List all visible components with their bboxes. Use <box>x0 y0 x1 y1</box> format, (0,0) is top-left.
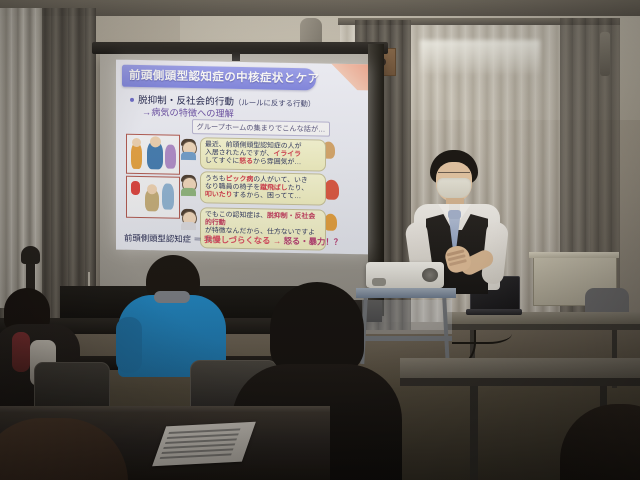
speaker-face-3 <box>180 209 197 230</box>
bubble2-line1b: の人がいて、いき <box>253 176 308 184</box>
illustration-panel-2 <box>126 176 180 219</box>
slide-lead-text: グループホームの集まりでこんな話が… <box>193 120 329 136</box>
front-table <box>400 358 640 378</box>
screen-header-bar <box>92 42 388 54</box>
presenter-tie-knot <box>448 210 461 219</box>
illustration-panel-1 <box>126 134 180 175</box>
bubble2-hl2: 蹴飛ばし <box>260 184 288 192</box>
attendee-blue-collar <box>154 291 190 303</box>
bubble1-line3: してすぐに <box>205 158 239 166</box>
bubble2-line2: なり職員の椅子を <box>205 183 260 191</box>
face-mask-icon <box>437 178 471 198</box>
attendee-left-red-panel <box>12 332 30 372</box>
slide-bullet-paren: （ルールに反する行動） <box>234 98 315 109</box>
mini-figure-right-2 <box>324 180 339 200</box>
projected-slide: 前頭側頭型認知症の中核症状とケア 脱抑制・反社会的行動（ルールに反する行動） →… <box>116 60 368 255</box>
slide-title-banner: 前頭側頭型認知症の中核症状とケア <box>122 65 316 91</box>
slide-title: 前頭側頭型認知症の中核症状とケア <box>122 65 316 91</box>
bubble2-line2b: たり、 <box>288 185 308 192</box>
ceiling-beam <box>0 0 640 16</box>
front-table-leg-left <box>470 386 478 480</box>
slide-subline: →病気の特徴への理解 <box>142 104 234 120</box>
bubble1-hl1: イライラ <box>273 151 301 159</box>
slide-lead-box: グループホームの集まりでこんな話が… <box>192 119 330 137</box>
speaker-face-2 <box>180 175 197 196</box>
attendee-blue-arm <box>116 317 142 373</box>
attendee-center-head <box>270 282 364 374</box>
wall-hook <box>600 32 610 76</box>
bullet-dot-icon <box>130 98 134 102</box>
bubble2-hl1: ピック病 <box>226 175 254 183</box>
speaker-face-1 <box>180 139 197 160</box>
summary-arrow: → <box>273 236 281 246</box>
printed-handout <box>152 422 256 467</box>
projector-lens-icon <box>422 268 438 282</box>
presenter <box>398 150 518 330</box>
attendee-blue <box>118 255 226 375</box>
bubble2-hl3: 叩いたり <box>205 192 233 200</box>
bubble2-line1: うちも <box>205 175 226 182</box>
bubble1-hl2: 怒る <box>239 158 253 165</box>
bubble2-line3: するから、困ってて… <box>233 192 302 200</box>
bubble1-line3b: から雰囲気が… <box>253 159 301 167</box>
bubble3-line1: でもこの認知症は、 <box>205 211 267 219</box>
cabinet-top <box>529 252 619 258</box>
window-light <box>420 40 540 74</box>
bubble1-line1: 最近、前頭側頭型認知症の人が <box>205 141 301 150</box>
front-table-edge <box>400 378 640 386</box>
summary-key: 前頭側頭型認知症 ＝ <box>124 233 202 244</box>
speech-bubble-2: うちもピック病の人がいて、いき なり職員の椅子を蹴飛ばしたり、 叩いたりするから… <box>200 171 326 206</box>
summary-result: 怒る・暴力！？ <box>284 236 343 247</box>
slide-corner-accent <box>328 64 368 91</box>
summary-value: 我慢しづらくなる <box>204 234 271 245</box>
speech-bubble-1: 最近、前頭側頭型認知症の人が 入居されたんですが、イライラ してすぐに怒るから雰… <box>200 137 326 172</box>
photo-scene: 前頭側頭型認知症の中核症状とケア 脱抑制・反社会的行動（ルールに反する行動） →… <box>0 0 640 480</box>
bubble1-line2: 入居されたんですが、 <box>205 149 273 157</box>
